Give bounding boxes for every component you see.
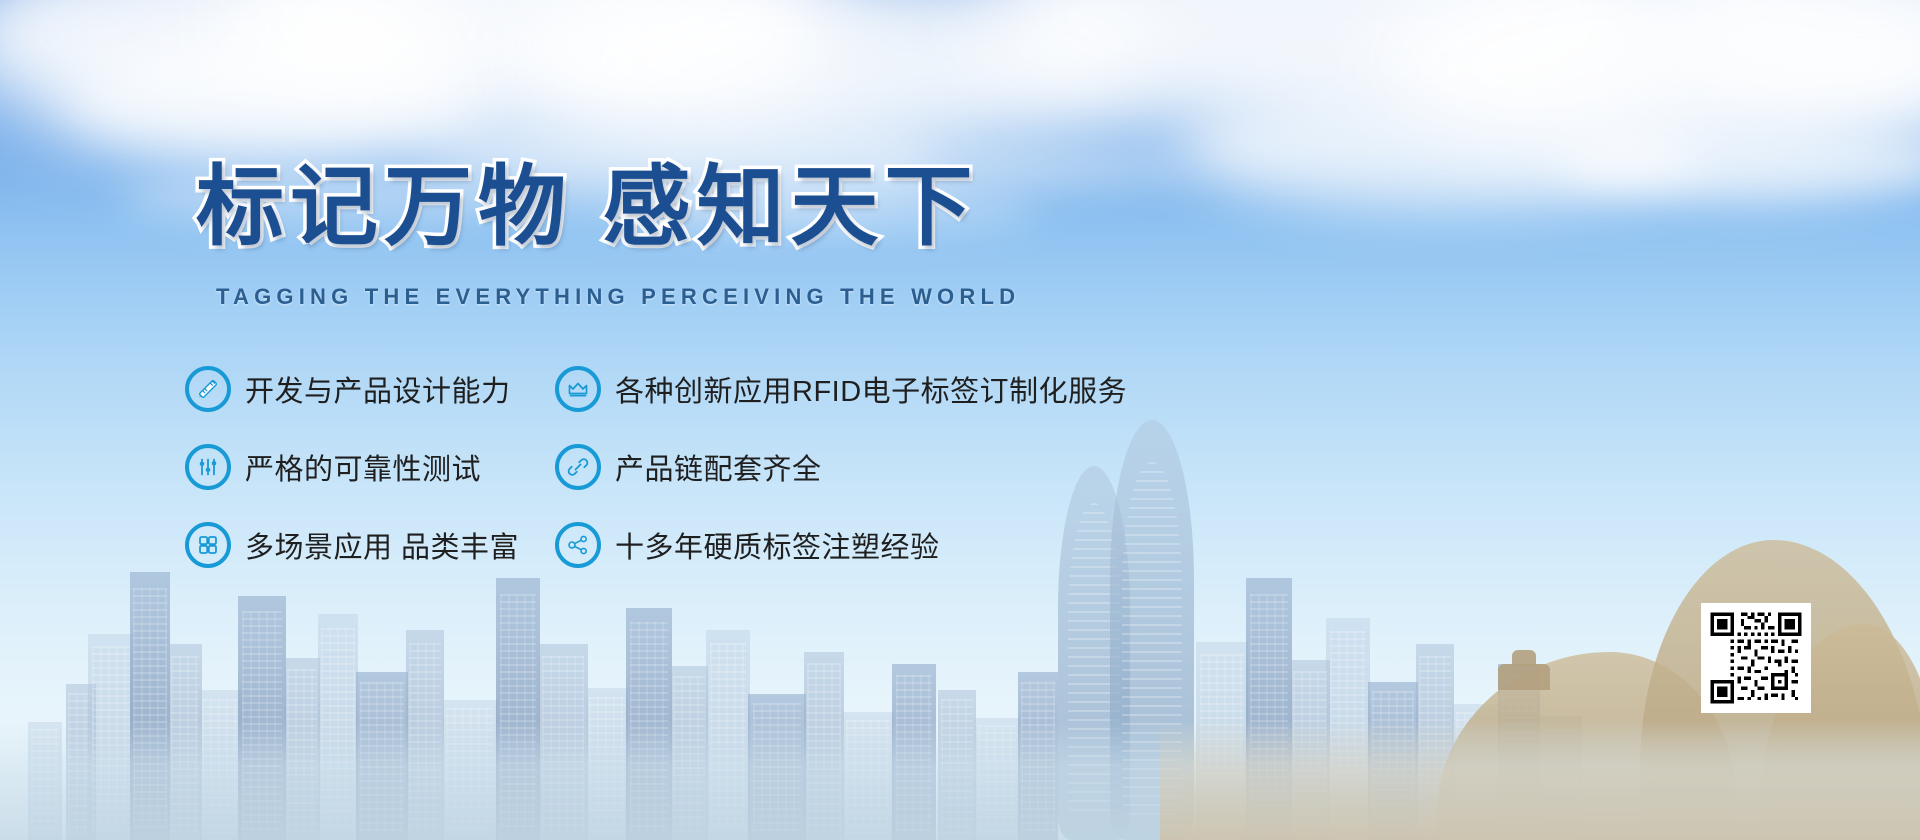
banner-content: 标记万物 感知天下 TAGGING THE EVERYTHING PERCEIV…	[0, 0, 1920, 840]
qr-code[interactable]	[1701, 603, 1811, 713]
share-network-icon	[555, 522, 601, 568]
feature-label: 开发与产品设计能力	[245, 368, 511, 410]
grid-squares-icon	[185, 522, 231, 568]
feature-column-left: 严格的可靠性测试	[185, 428, 555, 506]
feature-row: 开发与产品设计能力 各种创新应用RFID电子标签订制化服务	[185, 350, 1265, 428]
feature-item-reliability-testing: 严格的可靠性测试	[185, 428, 555, 506]
feature-list: 开发与产品设计能力 各种创新应用RFID电子标签订制化服务	[185, 350, 1265, 584]
feature-label: 各种创新应用RFID电子标签订制化服务	[615, 368, 1127, 410]
equalizer-sliders-icon	[185, 444, 231, 490]
feature-item-molding-experience: 十多年硬质标签注塑经验	[555, 506, 1195, 584]
feature-item-multi-scenario: 多场景应用 品类丰富	[185, 506, 555, 584]
feature-row: 严格的可靠性测试	[185, 428, 1265, 506]
tagline: TAGGING THE EVERYTHING PERCEIVING THE WO…	[216, 284, 1020, 310]
qr-code-image	[1707, 609, 1805, 707]
feature-label: 十多年硬质标签注塑经验	[615, 524, 940, 566]
feature-column-right: 十多年硬质标签注塑经验	[555, 506, 1195, 584]
feature-column-right: 产品链配套齐全	[555, 428, 1195, 506]
feature-item-product-chain: 产品链配套齐全	[555, 428, 1195, 506]
chain-link-icon	[555, 444, 601, 490]
feature-item-development-design: 开发与产品设计能力	[185, 350, 555, 428]
crown-icon	[555, 366, 601, 412]
feature-label: 严格的可靠性测试	[245, 446, 481, 488]
pencil-ruler-icon	[185, 366, 231, 412]
feature-label: 多场景应用 品类丰富	[245, 524, 519, 566]
promotional-banner: 标记万物 感知天下 TAGGING THE EVERYTHING PERCEIV…	[0, 0, 1920, 840]
feature-label: 产品链配套齐全	[615, 446, 822, 488]
feature-item-rfid-customization: 各种创新应用RFID电子标签订制化服务	[555, 350, 1195, 428]
feature-row: 多场景应用 品类丰富	[185, 506, 1265, 584]
feature-column-left: 多场景应用 品类丰富	[185, 506, 555, 584]
page-title: 标记万物 感知天下	[196, 163, 978, 251]
feature-column-left: 开发与产品设计能力	[185, 350, 555, 428]
feature-column-right: 各种创新应用RFID电子标签订制化服务	[555, 350, 1195, 428]
